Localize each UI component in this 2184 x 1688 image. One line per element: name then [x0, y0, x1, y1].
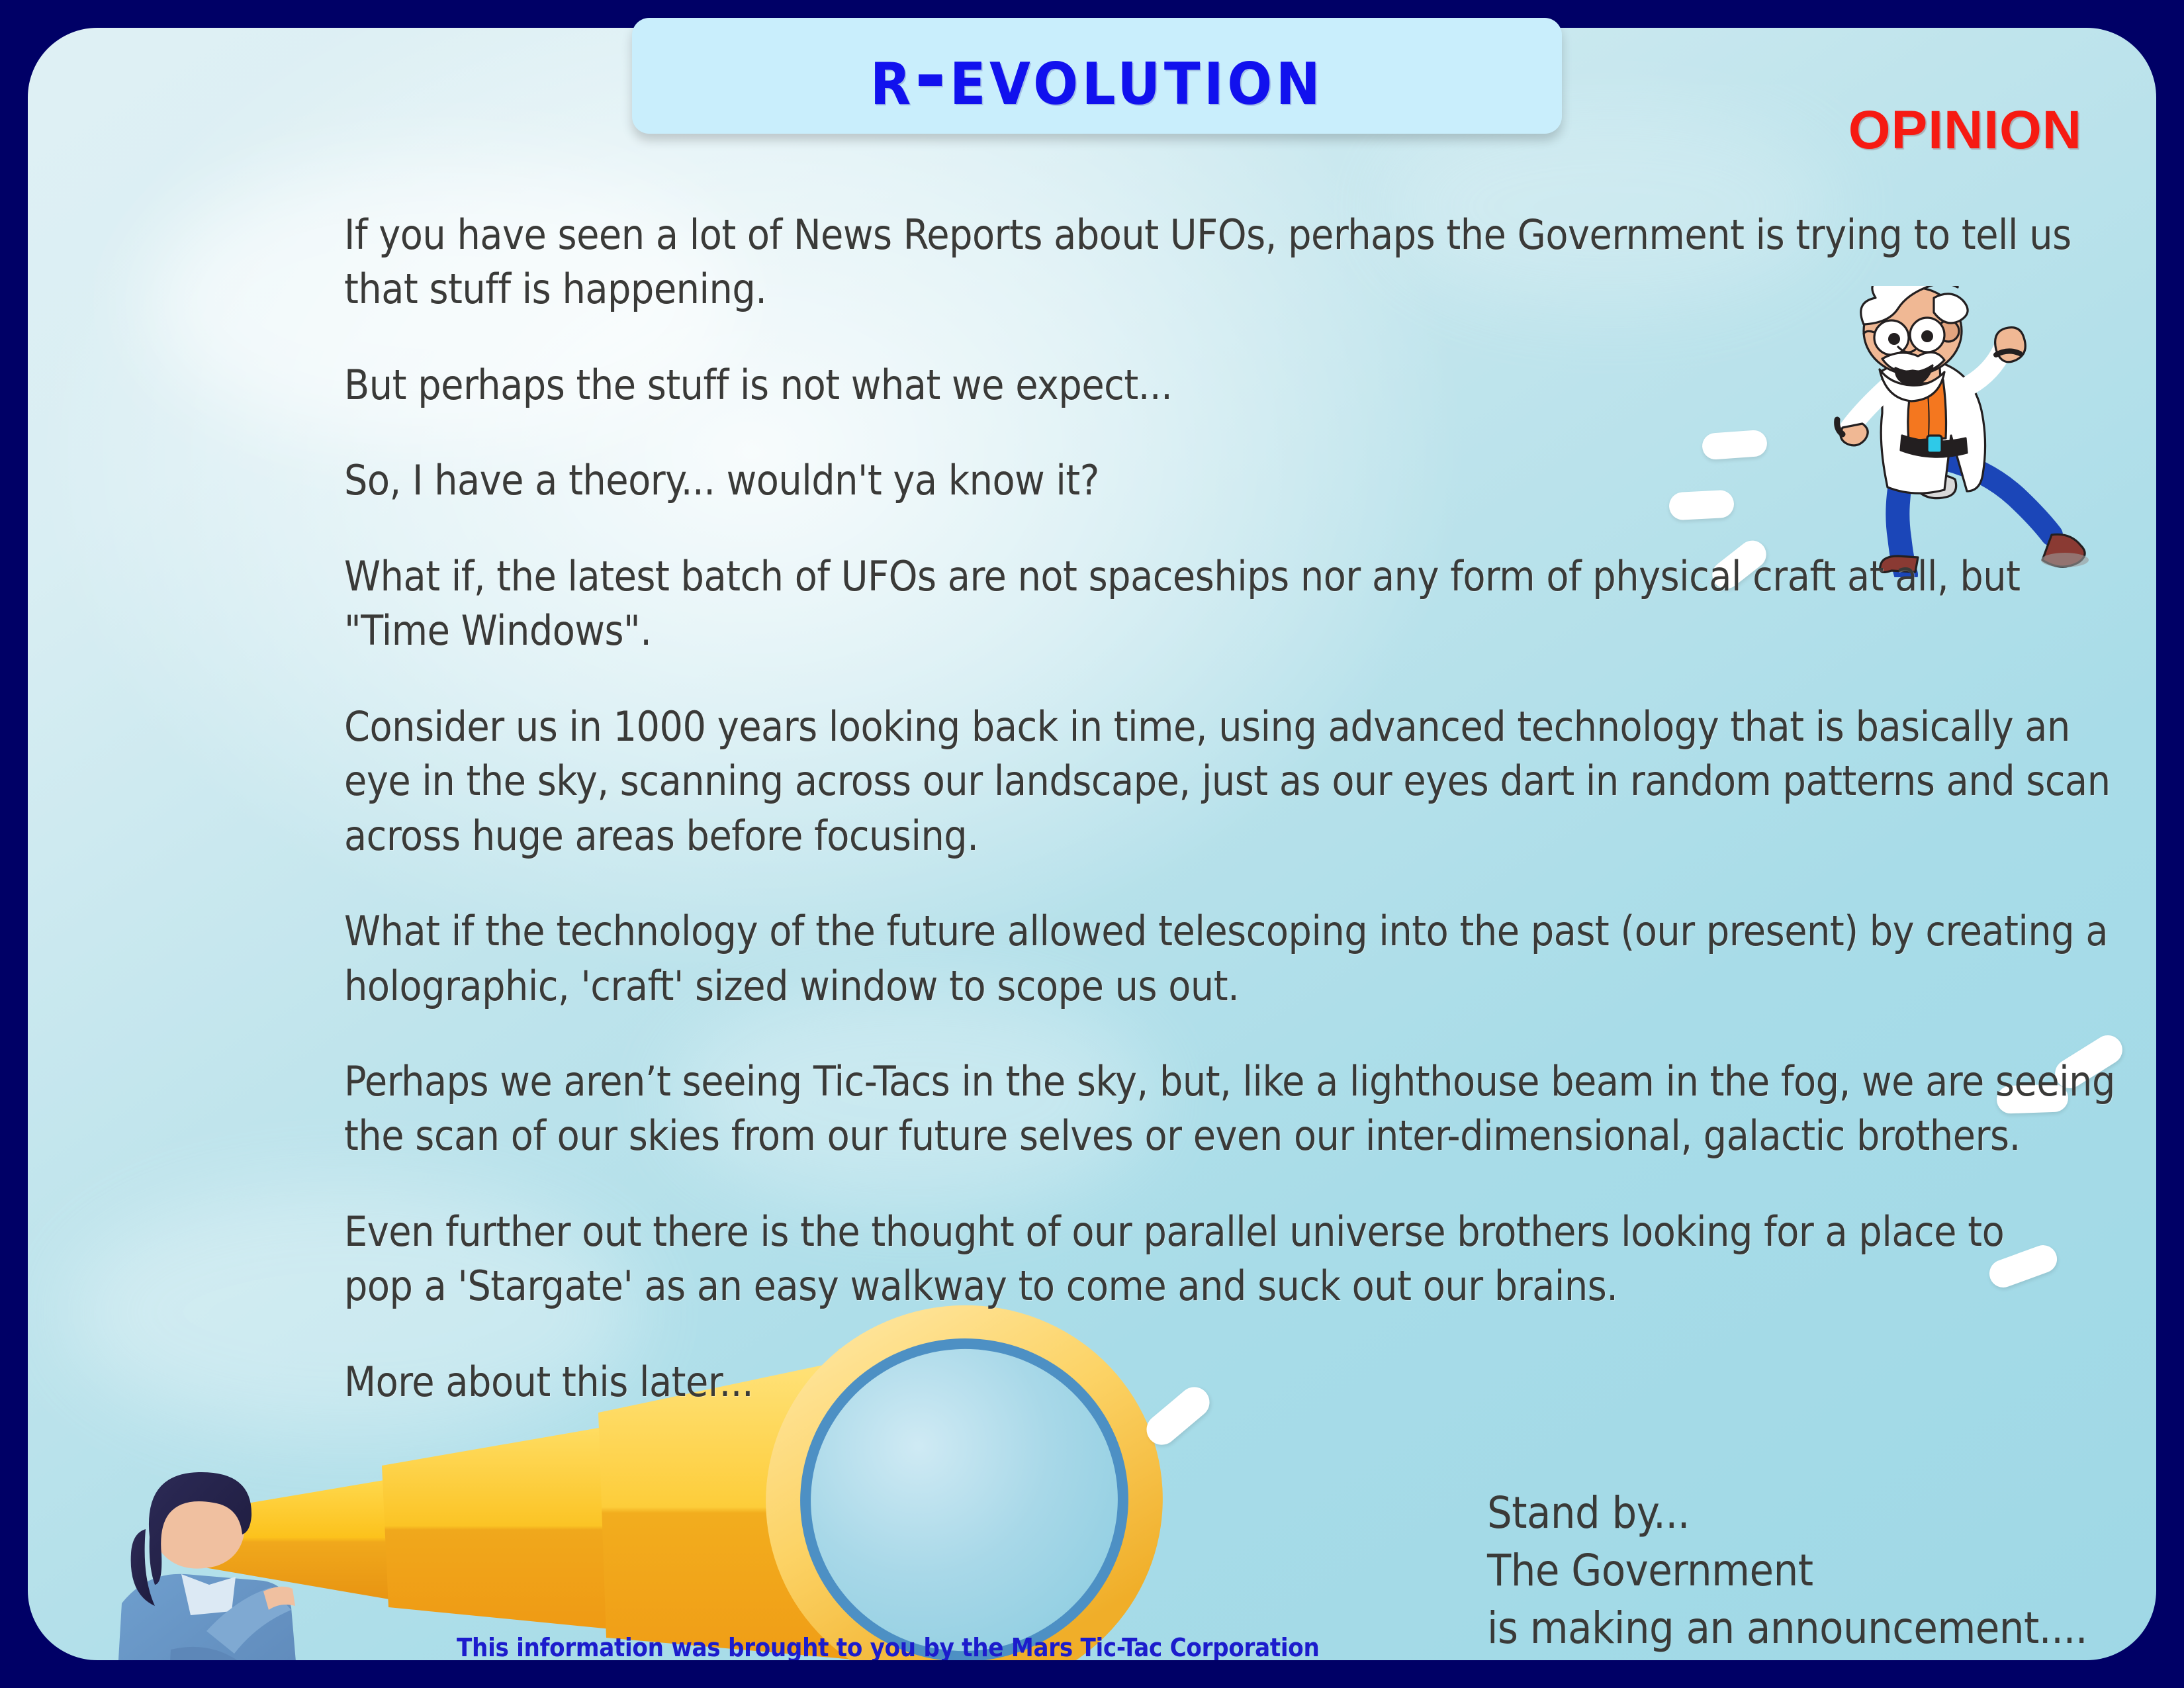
paragraph-3: So, I have a theory... wouldn't ya know … [344, 453, 2118, 508]
paragraph-6: What if the technology of the future all… [344, 904, 2118, 1013]
paragraph-8: Even further out there is the thought of… [344, 1205, 2038, 1314]
credit-line: This information was brought to you by t… [457, 1633, 1320, 1660]
title-banner: R-Evolution [632, 18, 1562, 134]
body-copy: If you have seen a lot of News Reports a… [344, 208, 2118, 1409]
standby-line-1: Stand by... [1487, 1484, 2087, 1542]
slide-frame: OPINION If you have seen a lot of News R… [0, 0, 2184, 1688]
standby-line-3: is making an announcement.... [1487, 1599, 2087, 1657]
slide-card: OPINION If you have seen a lot of News R… [28, 28, 2156, 1660]
opinion-label: OPINION [1848, 99, 2082, 162]
paragraph-7: Perhaps we aren’t seeing Tic-Tacs in the… [344, 1055, 2118, 1164]
paragraph-5: Consider us in 1000 years looking back i… [344, 700, 2118, 863]
standby-block: Stand by... The Government is making an … [1487, 1484, 2087, 1657]
woman-looking-through-telescope-illustration [107, 1438, 392, 1660]
paragraph-2: But perhaps the stuff is not what we exp… [344, 358, 2118, 412]
paragraph-4: What if, the latest batch of UFOs are no… [344, 549, 2118, 659]
paragraph-1: If you have seen a lot of News Reports a… [344, 208, 2118, 317]
standby-line-2: The Government [1487, 1542, 2087, 1599]
page-title: R-Evolution [870, 35, 1324, 117]
paragraph-9: More about this later... [344, 1355, 2118, 1409]
